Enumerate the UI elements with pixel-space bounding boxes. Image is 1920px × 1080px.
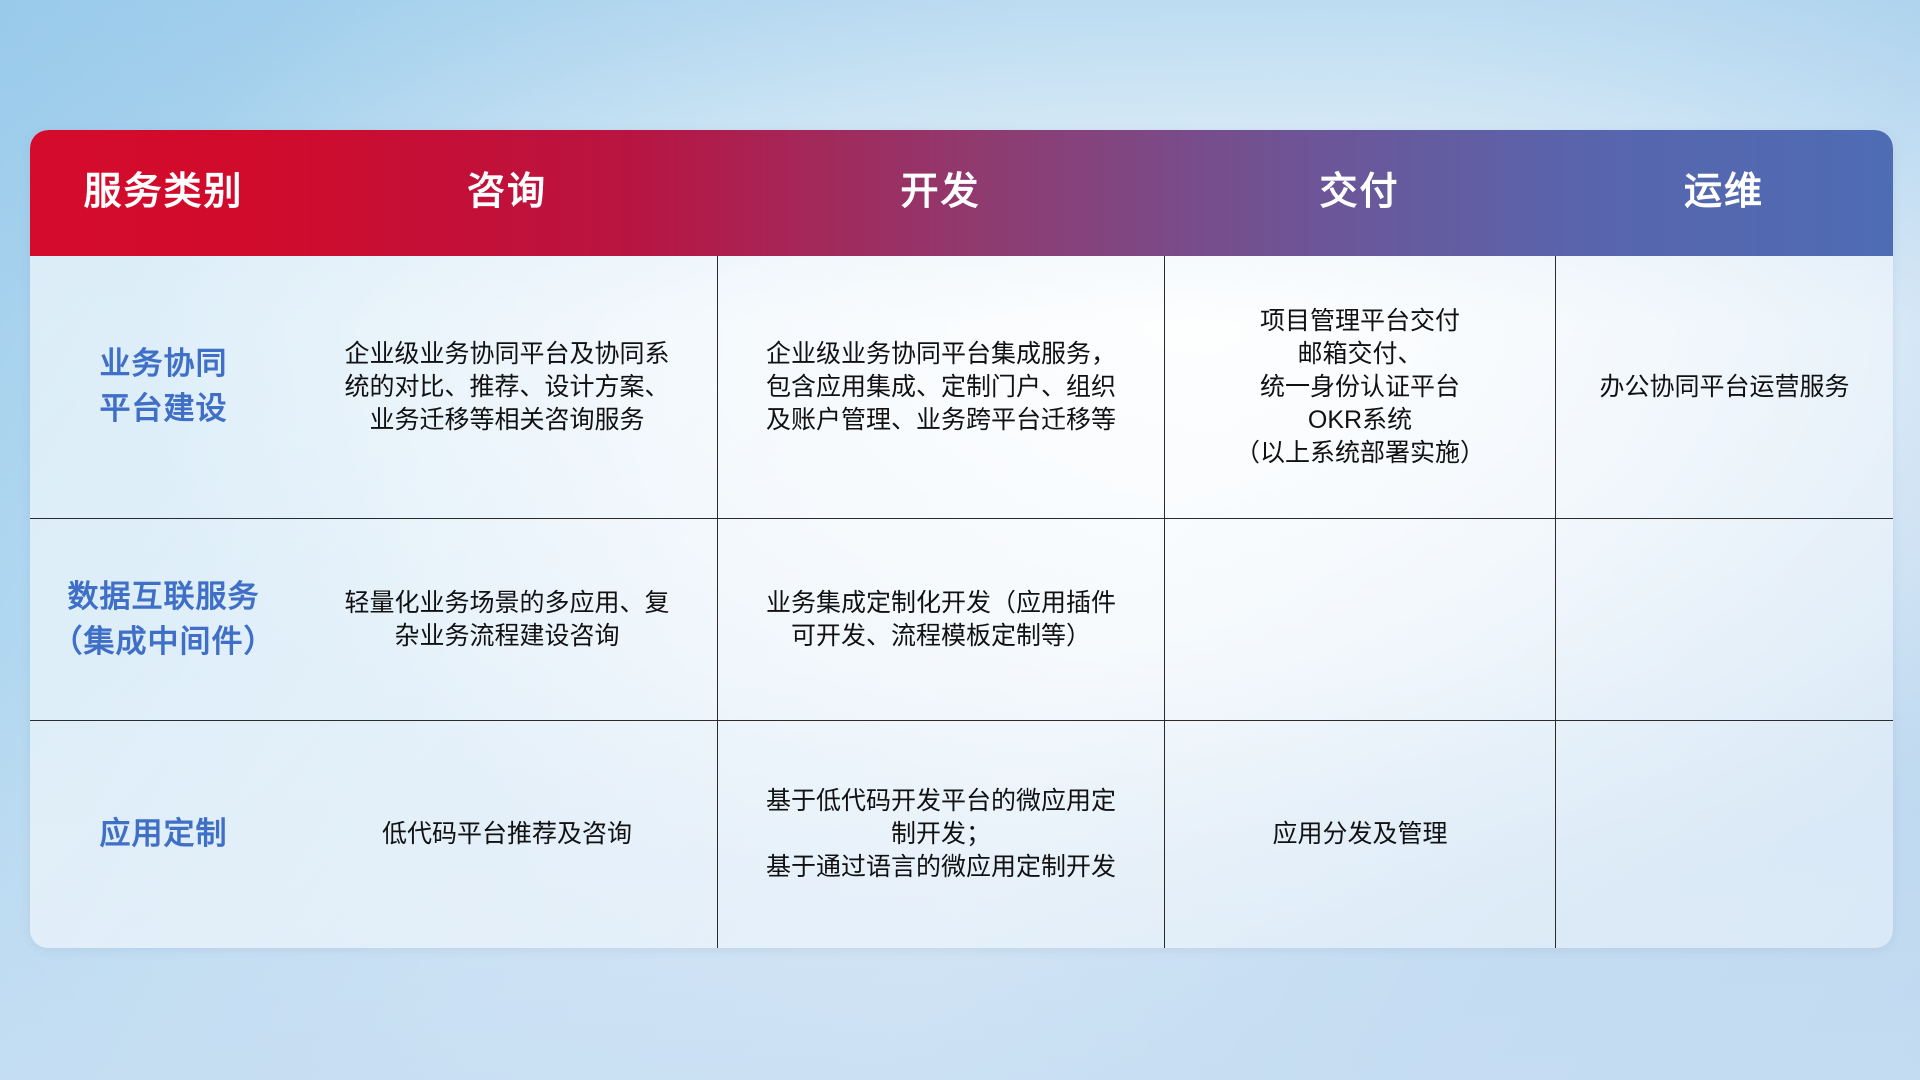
cell-operations [1555, 519, 1893, 720]
table-row: 业务协同 平台建设 企业级业务协同平台及协同系 统的对比、推荐、设计方案、 业务… [30, 256, 1893, 518]
cell-category: 数据互联服务 （集成中间件） [30, 519, 297, 720]
service-matrix-table: 服务类别 咨询 开发 交付 运维 业务协同 平台建设 企业级业务协同平台及协同系… [30, 130, 1893, 948]
cell-development: 企业级业务协同平台集成服务， 包含应用集成、定制门户、组织 及账户管理、业务跨平… [717, 256, 1164, 518]
cell-category: 业务协同 平台建设 [30, 256, 297, 518]
table-row: 数据互联服务 （集成中间件） 轻量化业务场景的多应用、复 杂业务流程建设咨询 业… [30, 518, 1893, 720]
cell-consulting: 企业级业务协同平台及协同系 统的对比、推荐、设计方案、 业务迁移等相关咨询服务 [297, 256, 717, 518]
table-header-row: 服务类别 咨询 开发 交付 运维 [30, 130, 1893, 256]
table-row: 应用定制 低代码平台推荐及咨询 基于低代码开发平台的微应用定 制开发； 基于通过… [30, 720, 1893, 948]
column-header-delivery: 交付 [1164, 172, 1555, 214]
column-header-service-category: 服务类别 [30, 172, 297, 214]
cell-operations [1555, 721, 1893, 948]
cell-consulting: 轻量化业务场景的多应用、复 杂业务流程建设咨询 [297, 519, 717, 720]
cell-development: 业务集成定制化开发（应用插件 可开发、流程模板定制等） [717, 519, 1164, 720]
cell-development: 基于低代码开发平台的微应用定 制开发； 基于通过语言的微应用定制开发 [717, 721, 1164, 948]
table-body: 业务协同 平台建设 企业级业务协同平台及协同系 统的对比、推荐、设计方案、 业务… [30, 256, 1893, 948]
cell-consulting: 低代码平台推荐及咨询 [297, 721, 717, 948]
cell-category: 应用定制 [30, 721, 297, 948]
cell-delivery [1164, 519, 1555, 720]
column-header-development: 开发 [717, 172, 1164, 214]
column-header-consulting: 咨询 [297, 172, 717, 214]
cell-delivery: 项目管理平台交付 邮箱交付、 统一身份认证平台 OKR系统 （以上系统部署实施） [1164, 256, 1555, 518]
column-header-operations: 运维 [1555, 172, 1893, 214]
cell-delivery: 应用分发及管理 [1164, 721, 1555, 948]
cell-operations: 办公协同平台运营服务 [1555, 256, 1893, 518]
